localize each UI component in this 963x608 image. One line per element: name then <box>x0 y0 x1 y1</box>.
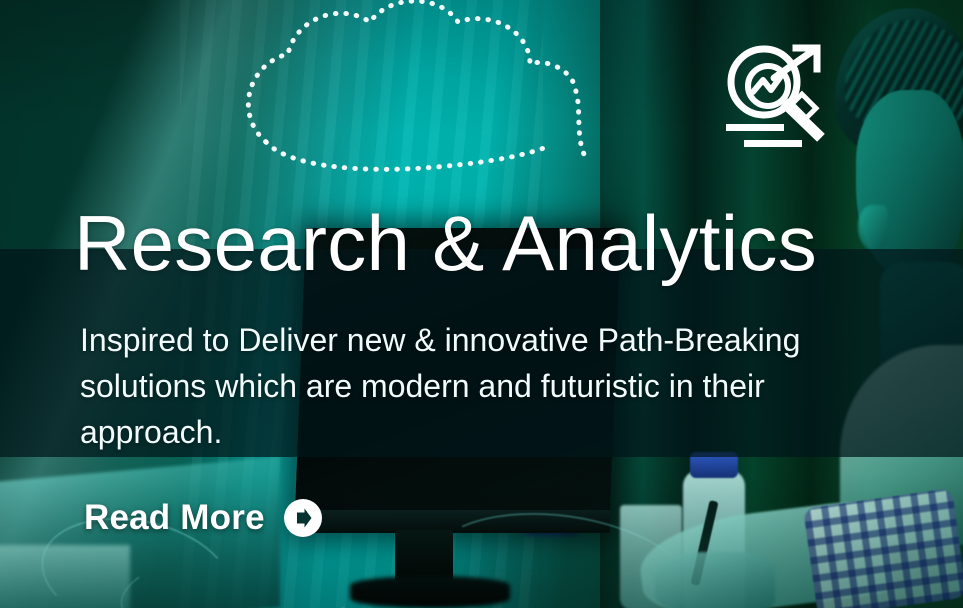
banner-description: Inspired to Deliver new & innovative Pat… <box>80 318 910 455</box>
banner-content: Research & Analytics Inspired to Deliver… <box>0 0 963 608</box>
read-more-button[interactable]: Read More <box>84 498 323 538</box>
research-analytics-banner: Research & Analytics Inspired to Deliver… <box>0 0 963 608</box>
read-more-label: Read More <box>84 498 265 538</box>
circle-arrow-right-icon[interactable] <box>283 498 323 538</box>
page-title: Research & Analytics <box>74 204 817 282</box>
